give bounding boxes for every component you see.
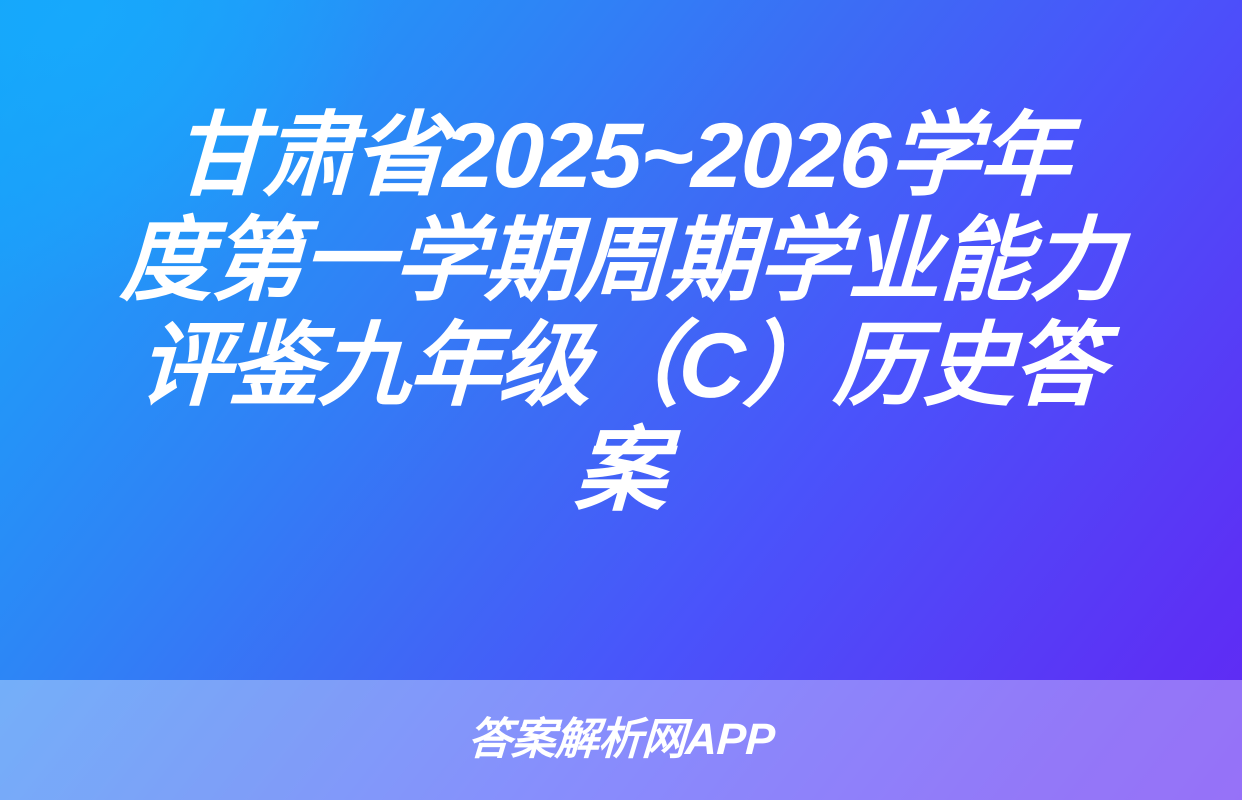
poster-canvas: 甘肃省2025~2026学年 度第一学期周期学业能力 评鉴九年级（C）历史答 案… — [0, 0, 1242, 800]
title-line-1: 甘肃省2025~2026学年 — [76, 104, 1166, 209]
title-line-4: 案 — [76, 419, 1166, 524]
title-line-3: 评鉴九年级（C）历史答 — [76, 314, 1166, 419]
footer-banner: 答案解析网APP — [0, 680, 1242, 800]
title-line-2: 度第一学期周期学业能力 — [76, 209, 1166, 314]
page-title: 甘肃省2025~2026学年 度第一学期周期学业能力 评鉴九年级（C）历史答 案 — [0, 104, 1242, 524]
app-brand-label: 答案解析网APP — [466, 714, 775, 766]
